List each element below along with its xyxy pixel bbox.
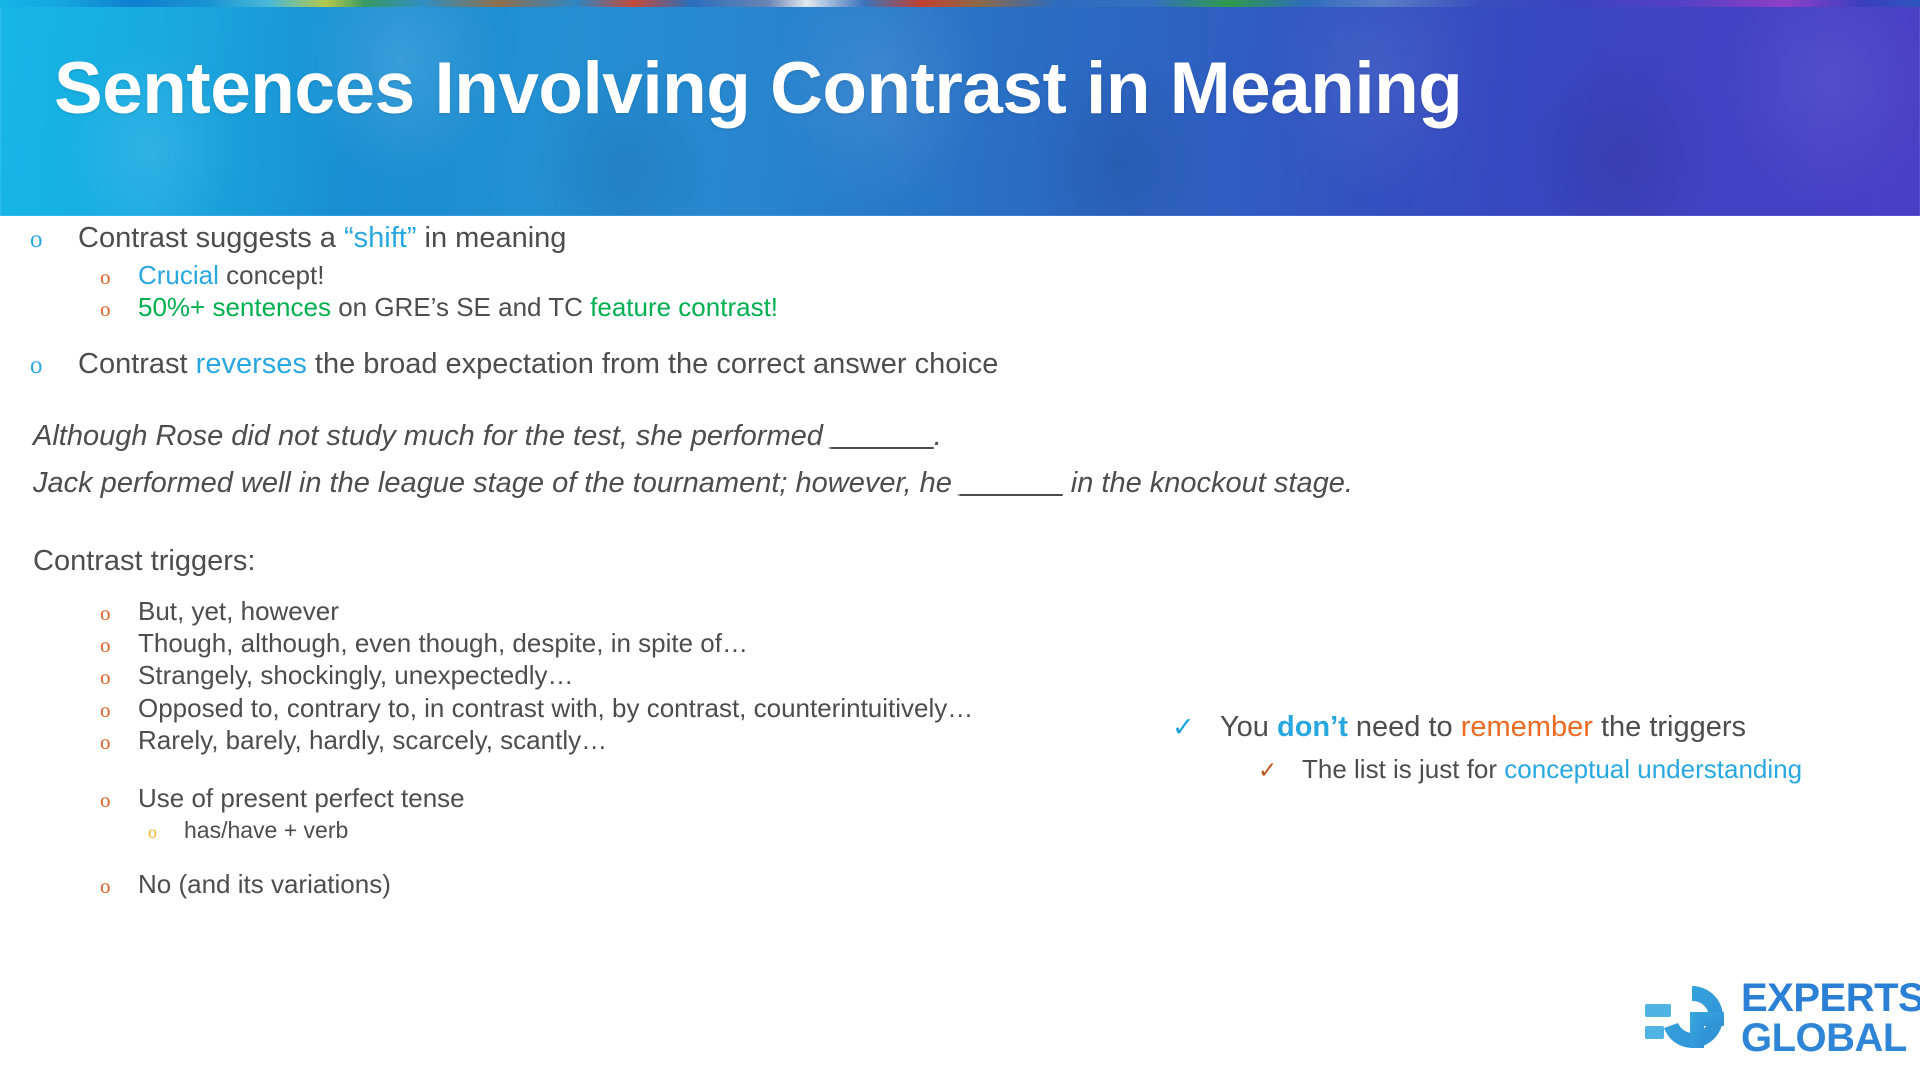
- bullet-text: Crucial concept!: [138, 260, 324, 291]
- bullet-marker-level2: o: [100, 635, 138, 656]
- checkmark-icon-level1: ✓: [1172, 714, 1220, 741]
- trigger-item-5: o Rarely, barely, hardly, scarcely, scan…: [100, 725, 607, 756]
- trigger-label: Strangely, shockingly, unexpectedly…: [138, 660, 574, 691]
- bullet-marker-level2: o: [100, 700, 138, 721]
- slide-body: o Contrast suggests a “shift” in meaning…: [0, 216, 1920, 1080]
- bullet-marker-level3: o: [148, 823, 184, 841]
- text-segment: in the knockout stage.: [1063, 467, 1353, 499]
- highlight-dont: don’t: [1277, 711, 1348, 743]
- logo: EXPERTS’ GLOBAL: [1645, 972, 1905, 1068]
- trigger-item-3: o Strangely, shockingly, unexpectedly…: [100, 660, 574, 691]
- example-sentence-1: Although Rose did not study much for the…: [33, 420, 942, 453]
- highlight-remember: remember: [1461, 711, 1593, 743]
- experts-global-g-mark-icon: [1645, 982, 1731, 1058]
- text-segment: Jack performed well in the league stage …: [33, 467, 960, 499]
- header-banner: Sentences Involving Contrast in Meaning: [0, 0, 1920, 216]
- bullet-contrast-reverses: o Contrast reverses the broad expectatio…: [30, 348, 998, 381]
- trigger-label: No (and its variations): [138, 869, 391, 900]
- highlight-reverses: reverses: [196, 348, 307, 380]
- banner-top-color-strip: [0, 0, 1920, 7]
- bullet-crucial-concept: o Crucial concept!: [100, 260, 324, 291]
- example-sentence-2: Jack performed well in the league stage …: [33, 467, 1353, 500]
- trigger-item-no-variations: o No (and its variations): [100, 869, 391, 900]
- checkmark-icon-level2: ✓: [1258, 760, 1302, 783]
- text-segment: Although Rose did not study much for the…: [33, 420, 831, 452]
- note-text: You don’t need to remember the triggers: [1220, 711, 1746, 744]
- trigger-label: But, yet, however: [138, 596, 339, 627]
- logo-wordmark: EXPERTS’ GLOBAL: [1741, 978, 1920, 1058]
- text-segment: the broad expectation from the correct a…: [307, 348, 999, 380]
- highlight-feature-contrast: feature contrast!: [590, 292, 778, 322]
- trigger-label: Rarely, barely, hardly, scarcely, scantl…: [138, 725, 607, 756]
- text-segment: on GRE’s SE and TC: [331, 292, 590, 322]
- bullet-fifty-percent-sentences: o 50%+ sentences on GRE’s SE and TC feat…: [100, 292, 778, 323]
- logo-line-2: GLOBAL: [1741, 1018, 1920, 1058]
- bullet-text: 50%+ sentences on GRE’s SE and TC featur…: [138, 292, 778, 323]
- bullet-marker-level2: o: [100, 267, 138, 288]
- text-segment: Contrast suggests a: [78, 222, 344, 254]
- highlight-conceptual-understanding: conceptual understanding: [1504, 754, 1802, 784]
- text-segment: .: [934, 420, 942, 452]
- note-secondary: ✓ The list is just for conceptual unders…: [1258, 754, 1802, 785]
- trigger-label: Use of present perfect tense: [138, 783, 465, 814]
- text-segment: You: [1220, 711, 1277, 743]
- trigger-item-2: o Though, although, even though, despite…: [100, 628, 748, 659]
- text-segment: concept!: [219, 260, 325, 290]
- bullet-contrast-shift: o Contrast suggests a “shift” in meaning: [30, 222, 566, 255]
- slide: Sentences Involving Contrast in Meaning …: [0, 0, 1920, 1080]
- highlight-fifty-percent: 50%+ sentences: [138, 292, 331, 322]
- text-segment: the triggers: [1593, 711, 1746, 743]
- note-primary: ✓ You don’t need to remember the trigger…: [1172, 711, 1746, 744]
- trigger-label: Opposed to, contrary to, in contrast wit…: [138, 693, 973, 724]
- note-text: The list is just for conceptual understa…: [1302, 754, 1802, 785]
- trigger-subitem-has-have-verb: o has/have + verb: [148, 817, 348, 844]
- trigger-item-present-perfect: o Use of present perfect tense: [100, 783, 465, 814]
- bullet-marker-level2: o: [100, 732, 138, 753]
- bullet-text: Contrast reverses the broad expectation …: [78, 348, 998, 381]
- highlight-crucial: Crucial: [138, 260, 219, 290]
- text-segment: The list is just for: [1302, 754, 1504, 784]
- trigger-item-1: o But, yet, however: [100, 596, 339, 627]
- triggers-heading: Contrast triggers:: [33, 545, 255, 578]
- bullet-text: Contrast suggests a “shift” in meaning: [78, 222, 566, 255]
- text-segment: need to: [1348, 711, 1461, 743]
- answer-blank: ______: [831, 420, 934, 452]
- bullet-marker-level1: o: [30, 227, 78, 252]
- trigger-item-4: o Opposed to, contrary to, in contrast w…: [100, 693, 973, 724]
- bullet-marker-level1: o: [30, 353, 78, 378]
- bullet-marker-level2: o: [100, 876, 138, 897]
- bullet-marker-level2: o: [100, 603, 138, 624]
- bullet-marker-level2: o: [100, 790, 138, 811]
- text-segment: in meaning: [416, 222, 566, 254]
- bullet-marker-level2: o: [100, 299, 138, 320]
- highlight-shift: “shift”: [344, 222, 417, 254]
- trigger-label: Though, although, even though, despite, …: [138, 628, 748, 659]
- bullet-marker-level2: o: [100, 667, 138, 688]
- trigger-label: has/have + verb: [184, 817, 348, 844]
- logo-line-1: EXPERTS’: [1741, 978, 1920, 1018]
- answer-blank: ______: [960, 467, 1063, 499]
- text-segment: Contrast: [78, 348, 196, 380]
- page-title: Sentences Involving Contrast in Meaning: [54, 52, 1462, 125]
